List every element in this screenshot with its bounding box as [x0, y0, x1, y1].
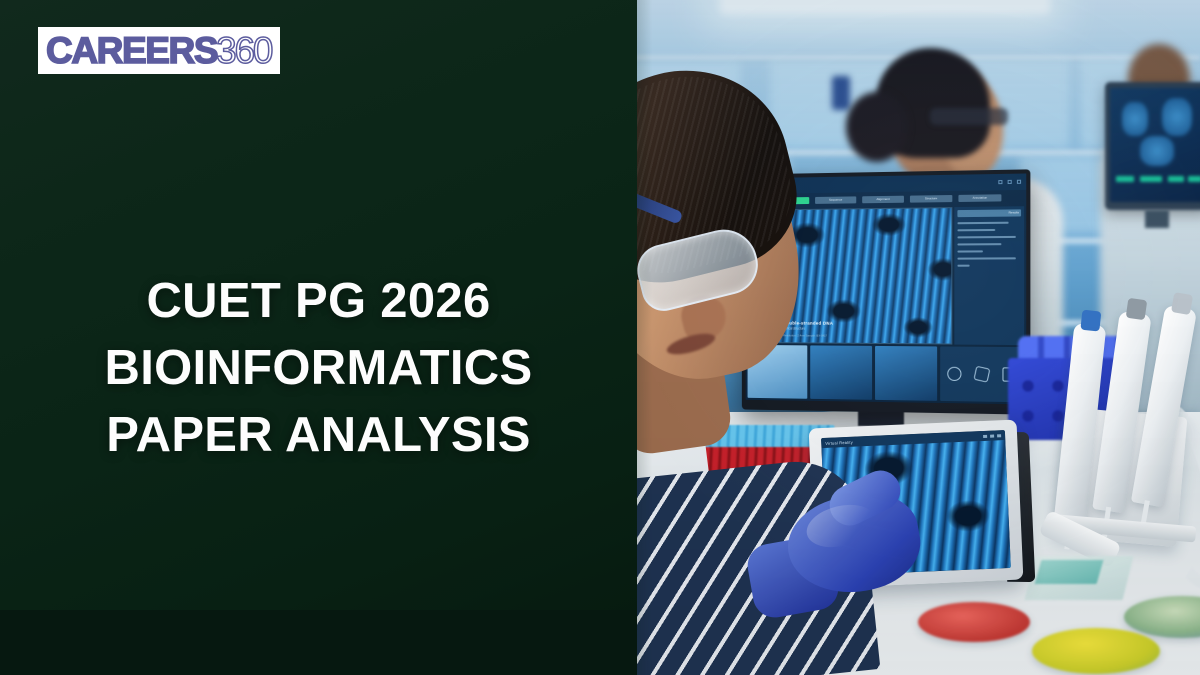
minimize-icon	[998, 180, 1002, 184]
page-title: CUET PG 2026 BIOINFORMATICS PAPER ANALYS…	[0, 268, 637, 469]
lab-photo: Genome Analysis Sequence Alignment Struc…	[600, 0, 1200, 675]
text-panel: CAREERS 360 CUET PG 2026 BIOINFORMATICS …	[0, 0, 637, 675]
monitor-stand	[858, 410, 904, 426]
dna-visualization: Double-stranded DNA Helical structure Re…	[778, 207, 952, 344]
reagent-bottle	[832, 76, 850, 110]
logo-suffix-text: 360	[216, 32, 271, 69]
monitor-results-panel: Results	[954, 206, 1024, 345]
tablet-window-controls	[983, 434, 1001, 438]
close-icon	[1017, 180, 1021, 184]
maximize-icon	[1008, 180, 1012, 184]
specimen-sublabel: Helical structure	[783, 326, 917, 331]
secondary-monitor-stand	[1145, 210, 1169, 228]
glass-slide-sample	[1035, 560, 1104, 584]
monitor-tab-sequence: Sequence	[815, 196, 856, 204]
molecule-icon	[973, 366, 990, 383]
background-scientist-goggles	[930, 108, 1008, 125]
background-scientist-ponytail	[846, 92, 908, 162]
specimen-label: Double-stranded DNA	[783, 320, 917, 326]
banner-canvas: Genome Analysis Sequence Alignment Struc…	[0, 0, 1200, 675]
monitor-tab-annotation: Annotation	[958, 194, 1001, 202]
results-panel-heading: Results	[957, 209, 1021, 217]
headline-line-2: BIOINFORMATICS	[0, 335, 637, 402]
panel-bottom-band	[0, 610, 637, 675]
secondary-monitor	[1105, 82, 1200, 210]
logo-primary-text: CAREERS	[46, 32, 217, 69]
monitor-filmstrip	[748, 345, 1025, 402]
ceiling-light	[720, 0, 1050, 14]
tablet-window-title: Virtual Reality	[825, 439, 853, 445]
monitor-tab-alignment: Alignment	[862, 195, 904, 203]
headline-line-3: PAPER ANALYSIS	[0, 402, 637, 469]
petri-dish-yellow	[1032, 628, 1160, 674]
headline-line-1: CUET PG 2026	[0, 268, 637, 335]
monitor-tab-structure: Structure	[910, 194, 952, 202]
careers360-logo[interactable]: CAREERS 360	[38, 27, 280, 74]
petri-dish-red	[918, 602, 1030, 642]
dna-helix-icon	[947, 367, 961, 381]
